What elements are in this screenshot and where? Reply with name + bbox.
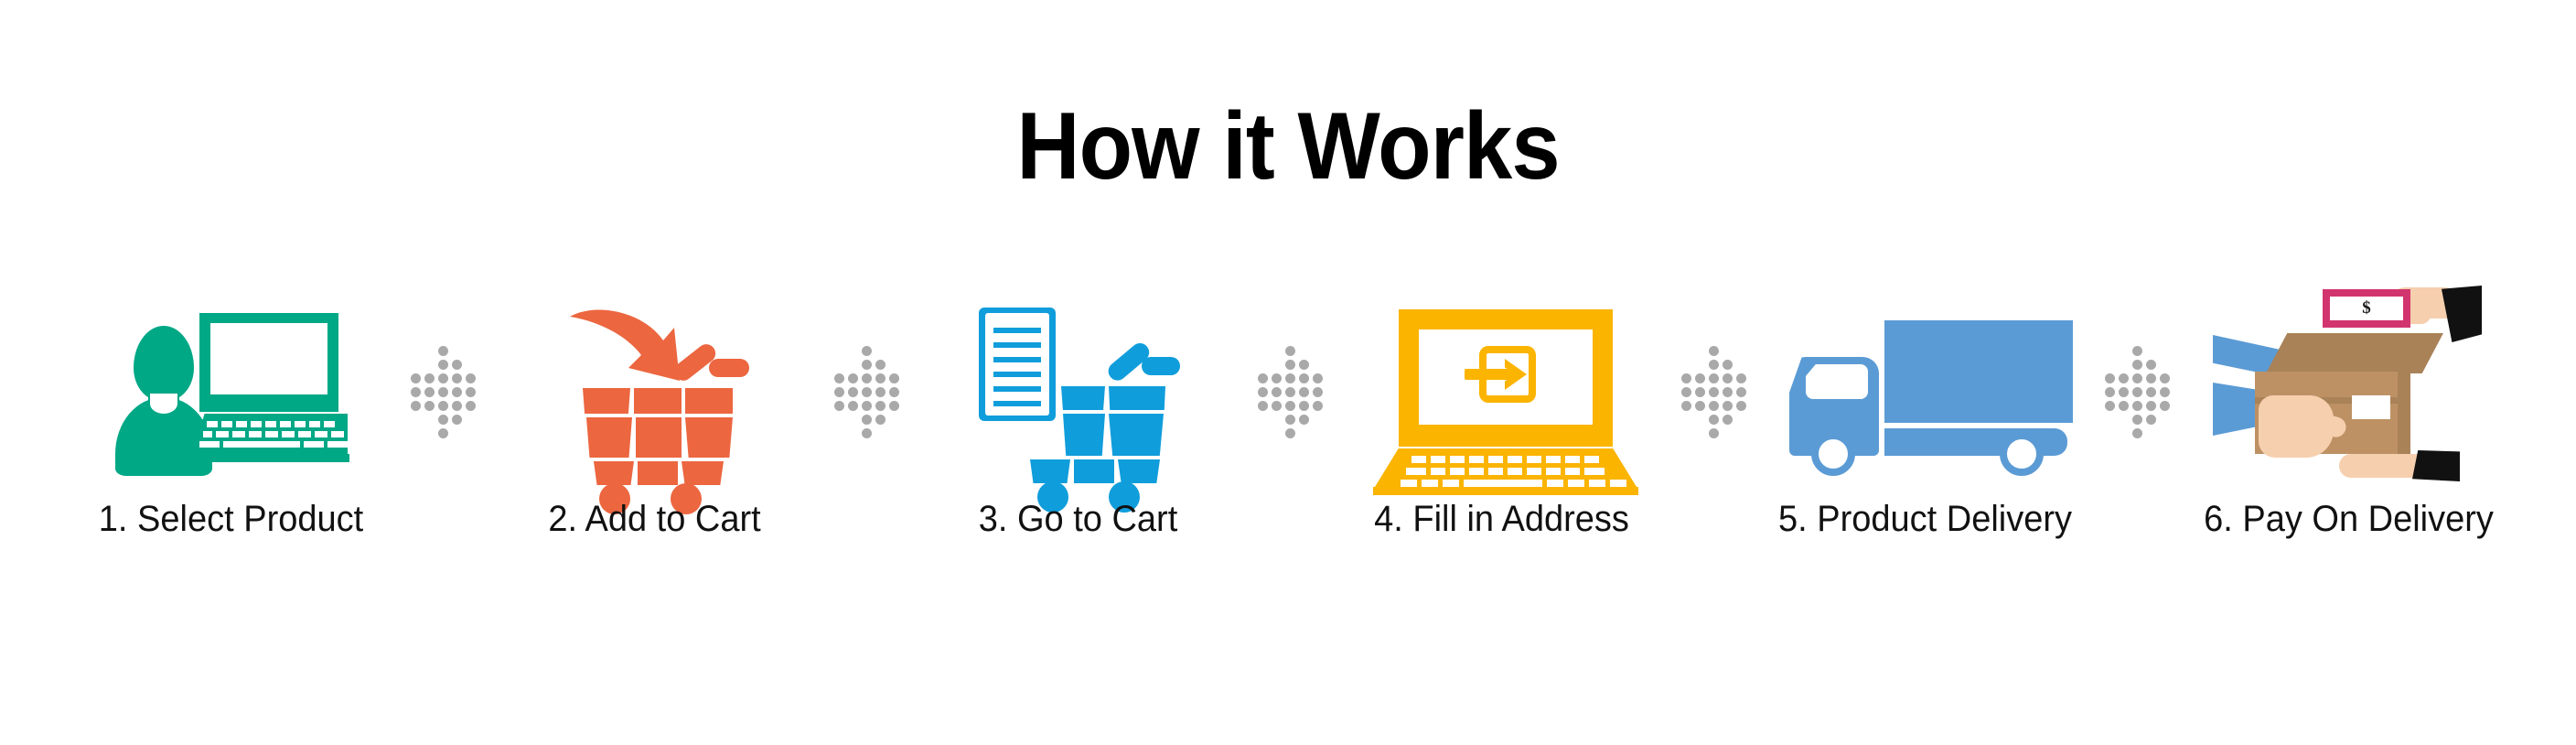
person-collar-shape: [150, 394, 177, 414]
step-6-label: 6. Pay On Delivery: [2182, 499, 2517, 540]
laptop-screen-shape: [210, 323, 327, 394]
login-arrow-stem: [1465, 369, 1516, 380]
laptop-keyrow-3: [1401, 480, 1626, 487]
step-4-label: 4. Fill in Address: [1335, 499, 1669, 540]
cart-seg: [1118, 459, 1160, 483]
document-with-cart-icon: [902, 302, 1254, 494]
truck-cargo-box-shape: [1884, 320, 2073, 423]
parcel-shipping-label: [2352, 395, 2390, 419]
laptop-keyrow-1: [1411, 456, 1599, 463]
dotted-arrow-right-icon-3: [1254, 302, 1326, 494]
lower-cuff-shape: [2412, 450, 2460, 481]
document-text-line: [993, 342, 1041, 348]
document-text-line: [993, 328, 1041, 333]
step-2-add-to-cart[interactable]: 2. Add to Cart: [478, 302, 831, 595]
step-1-select-product[interactable]: 1. Select Product: [55, 302, 407, 595]
hands-exchanging-box-and-money-icon: $: [2173, 302, 2525, 494]
dotted-arrow-right-icon-2: [831, 302, 902, 494]
step-5-product-delivery[interactable]: 5. Product Delivery: [1749, 302, 2101, 595]
parcel-box-top-shape: [2266, 333, 2443, 373]
cart-seg: [1030, 459, 1070, 483]
page-title: How it Works: [103, 99, 2474, 194]
step-1-label: 1. Select Product: [64, 499, 399, 540]
infographic-root: How it Works: [0, 0, 2576, 745]
parcel-box-side-shape: [2398, 372, 2410, 454]
step-5-label: 5. Product Delivery: [1758, 499, 2093, 540]
laptop-login-form-icon: [1326, 302, 1678, 494]
document-text-line: [993, 386, 1041, 392]
laptop-keyrow-2: [1406, 468, 1605, 475]
steps-row: 1. Select Product: [37, 302, 2543, 595]
step-6-pay-on-delivery[interactable]: $ 6. Pay: [2173, 302, 2525, 595]
step-4-fill-in-address[interactable]: 4. Fill in Address: [1326, 302, 1678, 595]
step-3-label: 3. Go to Cart: [911, 499, 1246, 540]
dotted-arrow-right-icon-4: [1678, 302, 1749, 494]
shopping-cart-with-arrow-icon: [478, 302, 831, 494]
dotted-arrow-right-icon-1: [407, 302, 478, 494]
truck-wheel-rear: [2000, 432, 2044, 476]
truck-window-shape: [1806, 364, 1868, 399]
cart-seg: [1109, 414, 1164, 456]
person-at-laptop-icon: [55, 302, 407, 494]
step-3-go-to-cart[interactable]: 3. Go to Cart: [902, 302, 1254, 595]
laptop-keyrow-1: [207, 421, 335, 427]
step-2-label: 2. Add to Cart: [488, 499, 822, 540]
laptop-foot-shape: [190, 454, 349, 462]
document-text-line: [993, 372, 1041, 377]
cart-seg: [1063, 414, 1105, 456]
truck-wheel-front: [1811, 432, 1855, 476]
dotted-arrow-right-icon-5: [2101, 302, 2173, 494]
document-text-line: [993, 357, 1041, 362]
laptop-keyrow-3: [199, 441, 348, 448]
laptop-keyrow-2: [203, 431, 344, 437]
cart-handle-tip: [1142, 357, 1180, 375]
cart-seg: [1061, 386, 1105, 410]
upper-cuff-shape: [2442, 286, 2482, 342]
cart-seg: [1109, 386, 1165, 410]
document-text-line: [993, 401, 1041, 406]
delivery-truck-icon: [1749, 302, 2101, 494]
laptop-foot-shape: [1373, 487, 1638, 495]
dollar-sign-icon: $: [2323, 289, 2410, 328]
cart-seg: [1074, 459, 1114, 483]
